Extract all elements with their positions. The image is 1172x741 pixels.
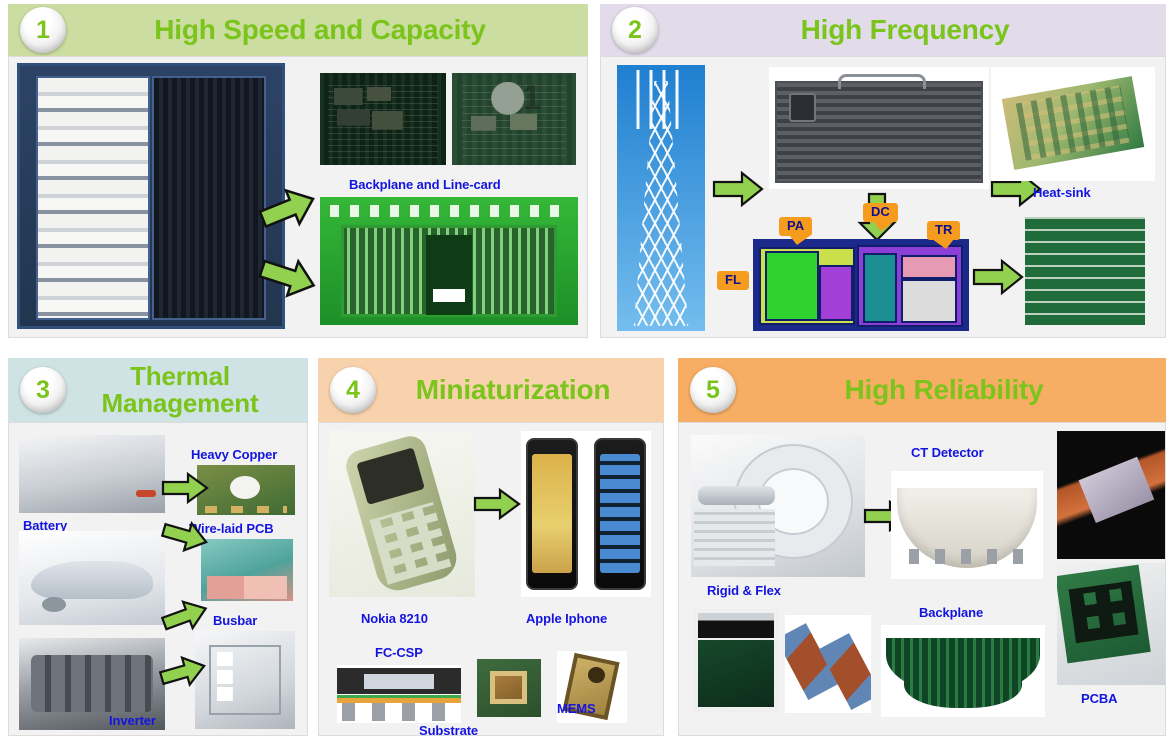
heavy-copper-pcb-photo (197, 465, 295, 515)
slide-root: 1 High Speed and Capacity Backplane and … (0, 0, 1172, 741)
flex-cable-dark-photo (1057, 431, 1165, 559)
panel-2-header: 2 High Frequency (600, 4, 1166, 56)
caption-nokia-8210: Nokia 8210 (361, 611, 428, 626)
green-backplane-photo (320, 197, 578, 325)
module-pa-green (765, 251, 819, 321)
arrow-rack-to-backplane-icon (257, 253, 319, 301)
cell-tower-photo (617, 65, 705, 331)
module-dc-teal (863, 253, 897, 323)
iphone-front (526, 438, 578, 591)
caption-substrate: Substrate (419, 723, 478, 736)
panel-2-title: High Frequency (600, 16, 1166, 45)
iphone-facetime-screen (532, 454, 572, 573)
fc-csp-cross-section-diagram (337, 665, 461, 723)
nokia-body (343, 433, 462, 596)
panel-1-header: 1 High Speed and Capacity (8, 4, 588, 56)
nokia-8210-photo (329, 431, 475, 597)
panel-1-number-badge: 1 (20, 7, 66, 53)
nokia-keypad (370, 502, 451, 585)
panel-thermal-management: 3 Thermal Management Battery Inverter He… (8, 358, 308, 736)
apple-iphone-photo (521, 431, 651, 597)
caption-apple-iphone: Apple Iphone (526, 611, 607, 626)
heat-sink-pcb-photo (991, 67, 1155, 181)
arrow-exploded-to-array-icon (971, 257, 1025, 297)
arrow-car-to-wire-laid-icon (161, 519, 209, 553)
panel-5-body: Rigid & Flex CT Detector PCBA Backplane (678, 422, 1166, 736)
callout-fl-label: FL (725, 272, 741, 287)
pcb-panel-array-photo (1025, 217, 1145, 325)
busbar-photo (195, 631, 295, 729)
panel-1-body: Backplane and Line-card (8, 56, 588, 338)
ev-car-cutaway-photo (19, 531, 165, 625)
arrow-battery-to-heavy-copper-icon (161, 471, 209, 505)
exploded-module-diagram (753, 239, 969, 331)
callout-tr-tail (932, 239, 954, 249)
arrow-nokia-to-iphone-icon (473, 487, 521, 521)
panel-3-number: 3 (36, 378, 50, 403)
module-purple-1 (819, 265, 853, 321)
caption-inverter: Inverter (109, 713, 156, 728)
pcba-card-photo (1057, 563, 1165, 685)
rru-equipment-box-photo (769, 67, 989, 189)
panel-1-title: High Speed and Capacity (8, 16, 588, 45)
backplane-center-slot (426, 235, 472, 314)
panel-2-number-badge: 2 (612, 7, 658, 53)
callout-tr: TR (927, 221, 960, 240)
panel-5-number: 5 (706, 378, 720, 403)
ct-scanner-photo (691, 435, 865, 577)
panel-5-title: High Reliability (678, 376, 1166, 405)
fccsp-die (364, 674, 433, 689)
ct-arm (698, 486, 775, 504)
panel-1-number: 1 (36, 18, 50, 43)
caption-fc-csp: FC-CSP (375, 645, 423, 660)
line-card-pcb-photo (452, 73, 576, 165)
caption-rigid-and-flex: Rigid & Flex (707, 583, 781, 598)
module-gray (901, 279, 957, 323)
panel-5-number-badge: 5 (690, 367, 736, 413)
battery-pack-photo (19, 435, 165, 513)
ct-detector-ring-photo (891, 471, 1043, 579)
arrow-tower-to-rru-icon (711, 169, 765, 209)
callout-dc-tail (873, 221, 895, 231)
panel-2-number: 2 (628, 18, 642, 43)
panel-4-header: 4 Miniaturization (318, 358, 664, 422)
caption-busbar: Busbar (213, 613, 257, 628)
panel-4-number: 4 (346, 378, 360, 403)
panel-2-body: Heat-sink PA DC (600, 56, 1166, 338)
module-tr-pink (901, 255, 957, 279)
panel-3-header: 3 Thermal Management (8, 358, 308, 422)
rru-box-shell (775, 81, 983, 183)
panel-miniaturization: 4 Miniaturization Nokia 8210 Apple Iphon… (318, 358, 664, 736)
panel-3-title-line-2: Management (58, 390, 302, 417)
panel-5-header: 5 High Reliability (678, 358, 1166, 422)
caption-ct-detector: CT Detector (911, 445, 984, 460)
panel-4-number-badge: 4 (330, 367, 376, 413)
caption-pcba: PCBA (1081, 691, 1117, 706)
ct-patient-bed (694, 509, 774, 566)
panel-3-body: Battery Inverter Heavy Copper Wire-laid … (8, 422, 308, 736)
fccsp-substrate-layer (337, 695, 461, 703)
wire-laid-pcb-photo (201, 539, 293, 601)
backplane-pcb-dark-photo (320, 73, 446, 165)
callout-pa-label: PA (787, 218, 804, 233)
iphone-back (594, 438, 646, 591)
panel-high-frequency: 2 High Frequency (600, 4, 1166, 340)
caption-heavy-copper: Heavy Copper (191, 447, 277, 462)
callout-pa-tail (789, 235, 811, 245)
rigid-flex-board-photo (693, 609, 779, 713)
fccsp-solder-balls (342, 703, 456, 720)
flex-connector-photo (785, 615, 871, 713)
arrow-rack-to-linecard-icon (257, 185, 319, 233)
panel-3-title-line-1: Thermal (58, 363, 302, 390)
callout-tr-label: TR (935, 222, 952, 237)
iphone-home-screen (600, 454, 640, 573)
callout-fl: FL (717, 271, 749, 290)
panel-4-body: Nokia 8210 Apple Iphone FC-CSP Substrate… (318, 422, 664, 736)
panel-3-number-badge: 3 (20, 367, 66, 413)
callout-pa: PA (779, 217, 812, 236)
curved-backplane-photo (881, 625, 1045, 717)
caption-heat-sink: Heat-sink (1033, 185, 1091, 200)
caption-backplane: Backplane (919, 605, 983, 620)
nokia-screen (357, 447, 426, 505)
caption-backplane-and-line-card: Backplane and Line-card (349, 177, 501, 192)
server-rack-photo (17, 63, 285, 329)
callout-dc-label: DC (871, 204, 890, 219)
arrow-car-to-busbar-icon (161, 599, 209, 633)
panel-high-reliability: 5 High Reliability Rigid & Flex CT Detec… (678, 358, 1166, 736)
heat-sink-board (1002, 76, 1144, 170)
bga-chip-photo (477, 659, 541, 717)
caption-mems: MEMS (557, 701, 596, 716)
arrow-inverter-to-busbar-icon (159, 655, 207, 689)
callout-dc: DC (863, 203, 898, 222)
panel-high-speed-and-capacity: 1 High Speed and Capacity Backplane and … (8, 4, 588, 340)
